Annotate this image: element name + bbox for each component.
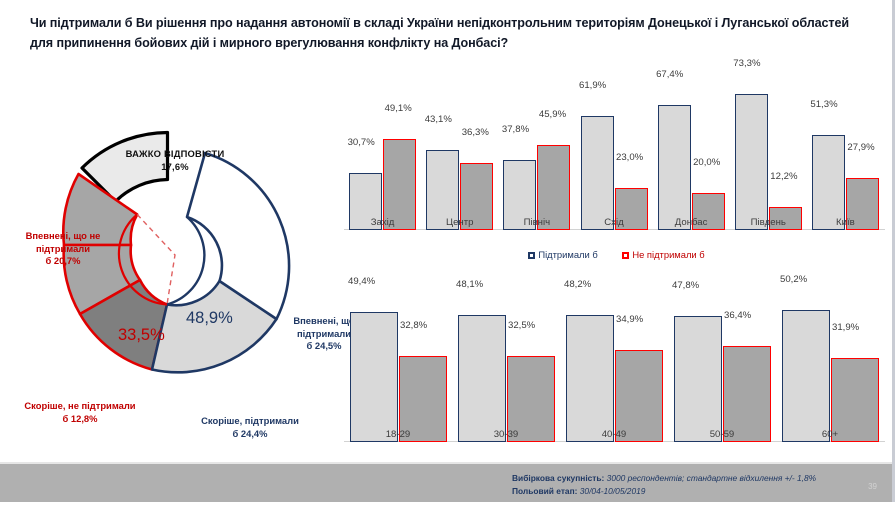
legend-label-supported: Підтримали б <box>538 249 597 260</box>
footer-band: Вибіркова сукупність: 3000 респондентів;… <box>0 462 895 502</box>
bar-value-label: 51,3% <box>810 99 837 110</box>
footer-field-value: 30/04-10/05/2019 <box>580 486 646 496</box>
x-axis-label: Схід <box>575 217 652 228</box>
legend-item-not-supported: Не підтримали б <box>622 249 704 260</box>
donut-label-sure-no: Впевнені, що не підтримали б 20,7% <box>4 230 122 268</box>
bar-supported-40-49 <box>566 315 614 442</box>
bar-value-label: 43,1% <box>425 114 452 125</box>
bar-supported-Схід <box>581 116 614 231</box>
donut-center-not-support: 33,5% <box>118 326 165 345</box>
legend-item-supported: Підтримали б <box>528 249 597 260</box>
footer-sample-value: 3000 респондентів; стандартне відхилення… <box>607 473 816 483</box>
bar-value-label: 47,8% <box>672 280 699 291</box>
bar-value-label: 48,1% <box>456 279 483 290</box>
x-axis-label: Центр <box>421 217 498 228</box>
bar-value-label: 32,5% <box>508 320 535 331</box>
legend-label-not-supported: Не підтримали б <box>632 249 704 260</box>
region-bar-chart: 30,7%49,1%Захід43,1%36,3%Центр37,8%45,9%… <box>344 62 889 252</box>
x-axis-label: Північ <box>498 217 575 228</box>
x-axis-label: 40-49 <box>560 429 668 440</box>
x-axis-label: Київ <box>807 217 884 228</box>
age-bar-chart: 49,4%32,8%18-2948,1%32,5%30-3948,2%34,9%… <box>344 282 889 464</box>
donut-chart: ВАЖКО ВІДПОВІСТИ 17,6% Впевнені, що не п… <box>0 70 350 410</box>
footer-field-label: Польовий етап: <box>512 486 577 496</box>
bottom-strip <box>0 502 895 532</box>
bar-not-supported-50-59 <box>723 346 771 442</box>
bar-value-label: 30,7% <box>348 137 375 148</box>
bar-value-label: 12,2% <box>770 171 797 182</box>
chart-legend: Підтримали б Не підтримали б <box>344 248 889 260</box>
donut-label-hard: ВАЖКО ВІДПОВІСТИ 17,6% <box>105 148 245 173</box>
footer-sample-label: Вибіркова сукупність: <box>512 473 604 483</box>
x-axis-label: 60+ <box>776 429 884 440</box>
bar-value-label: 61,9% <box>579 80 606 91</box>
donut-slice-sure-yes <box>187 153 289 319</box>
x-axis-label: Донбас <box>653 217 730 228</box>
bar-supported-30-39 <box>458 315 506 442</box>
x-axis-label: 30-39 <box>452 429 560 440</box>
bar-value-label: 31,9% <box>832 322 859 333</box>
bar-supported-Київ <box>812 135 845 230</box>
bar-supported-Донбас <box>658 105 691 230</box>
x-axis-label: 18-29 <box>344 429 452 440</box>
bar-value-label: 48,2% <box>564 279 591 290</box>
legend-swatch-not-supported <box>622 252 629 259</box>
bar-value-label: 23,0% <box>616 152 643 163</box>
bar-value-label: 73,3% <box>733 58 760 69</box>
bar-value-label: 50,2% <box>780 274 807 285</box>
bar-value-label: 20,0% <box>693 157 720 168</box>
bar-value-label: 37,8% <box>502 124 529 135</box>
slide: Чи підтримали б Ви рішення про надання а… <box>0 0 895 502</box>
bar-value-label: 36,4% <box>724 310 751 321</box>
x-axis-label: Захід <box>344 217 421 228</box>
donut-center-support: 48,9% <box>186 309 233 328</box>
bar-supported-18-29 <box>350 312 398 442</box>
donut-label-rather-no: Скоріше, не підтримали б 12,8% <box>14 400 146 425</box>
donut-label-rather-yes: Скоріше, підтримали б 24,4% <box>186 415 314 440</box>
bar-supported-50-59 <box>674 316 722 442</box>
bar-value-label: 36,3% <box>462 127 489 138</box>
x-axis-label: 50-59 <box>668 429 776 440</box>
x-axis-label: Південь <box>730 217 807 228</box>
bar-value-label: 49,1% <box>385 103 412 114</box>
bar-supported-60+ <box>782 310 830 442</box>
footer-text: Вибіркова сукупність: 3000 респондентів;… <box>512 472 816 497</box>
bar-value-label: 49,4% <box>348 276 375 287</box>
bar-value-label: 67,4% <box>656 69 683 80</box>
page-title: Чи підтримали б Ви рішення про надання а… <box>30 14 870 53</box>
donut-inner-support-arc <box>167 217 204 305</box>
bar-value-label: 34,9% <box>616 314 643 325</box>
legend-swatch-supported <box>528 252 535 259</box>
bar-value-label: 45,9% <box>539 109 566 120</box>
bar-value-label: 32,8% <box>400 320 427 331</box>
page-number: 39 <box>868 482 877 491</box>
bar-value-label: 27,9% <box>847 142 874 153</box>
bar-supported-Південь <box>735 94 768 230</box>
